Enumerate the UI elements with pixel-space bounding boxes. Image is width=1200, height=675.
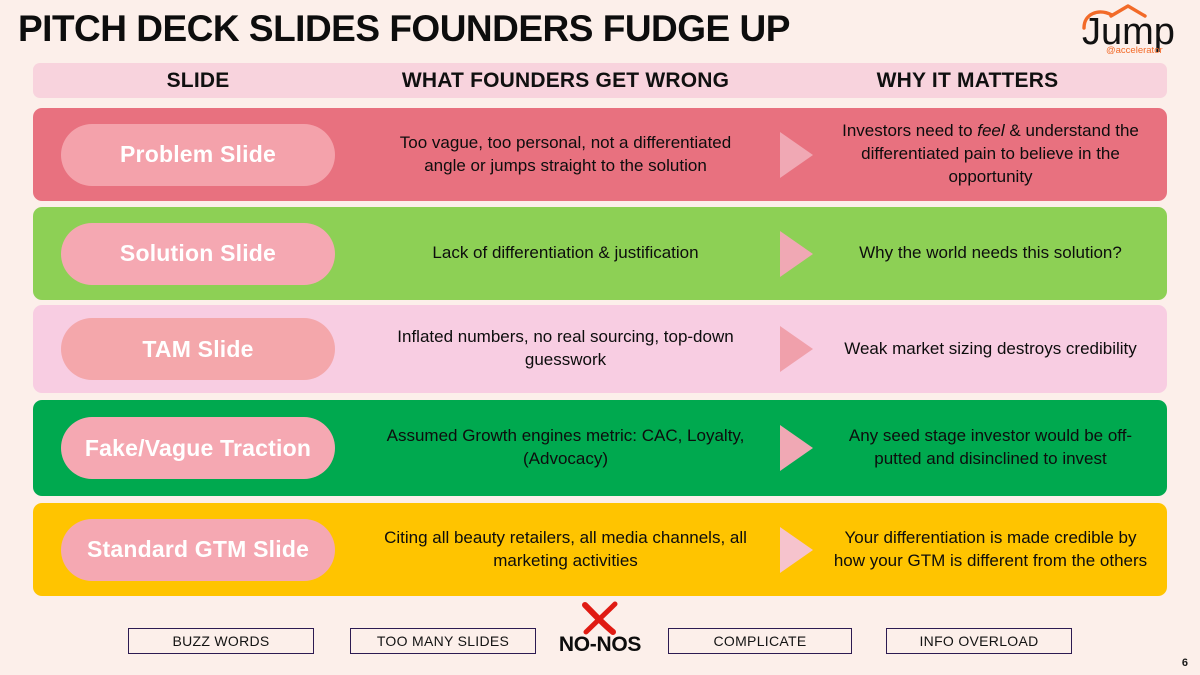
arrow-cell	[768, 132, 824, 178]
jump-logo-icon: Jump @accelerator	[1064, 2, 1196, 54]
play-arrow-icon	[780, 527, 813, 573]
why-it-matters-cell: Weak market sizing destroys credibility	[824, 338, 1167, 361]
header-matters: WHY IT MATTERS	[768, 69, 1167, 93]
nonos-badge: NO-NOS	[548, 600, 652, 657]
play-arrow-icon	[780, 231, 813, 277]
slide-name-pill: Solution Slide	[61, 223, 335, 285]
nono-chip-info-overload: INFO OVERLOAD	[886, 628, 1072, 654]
what-founders-get-wrong-cell: Inflated numbers, no real sourcing, top-…	[363, 326, 768, 372]
arrow-cell	[768, 326, 824, 372]
nono-chip-complicate: COMPLICATE	[668, 628, 852, 654]
play-arrow-icon	[780, 326, 813, 372]
slide-name-cell: Problem Slide	[33, 124, 363, 186]
nonos-label: NO-NOS	[548, 633, 652, 657]
slide-name-pill: TAM Slide	[61, 318, 335, 380]
svg-text:@accelerator: @accelerator	[1106, 45, 1163, 54]
jump-accelerator-logo: Jump @accelerator	[1064, 2, 1196, 54]
slide-name-pill: Fake/Vague Traction	[61, 417, 335, 479]
table-row: Standard GTM Slide Citing all beauty ret…	[33, 503, 1167, 596]
page-title: PITCH DECK SLIDES FOUNDERS FUDGE UP	[18, 8, 790, 50]
header-slide: SLIDE	[33, 69, 363, 93]
arrow-cell	[768, 527, 824, 573]
red-x-icon	[572, 600, 628, 636]
what-founders-get-wrong-cell: Lack of differentiation & justification	[363, 242, 768, 265]
what-founders-get-wrong-cell: Citing all beauty retailers, all media c…	[363, 527, 768, 573]
table-row: Solution Slide Lack of differentiation &…	[33, 207, 1167, 300]
nono-chip-too-many-slides: TOO MANY SLIDES	[350, 628, 536, 654]
what-founders-get-wrong-cell: Assumed Growth engines metric: CAC, Loya…	[363, 425, 768, 471]
arrow-cell	[768, 231, 824, 277]
page-number: 6	[1182, 657, 1188, 669]
slide-name-pill: Standard GTM Slide	[61, 519, 335, 581]
why-it-matters-cell: Investors need to feel & understand the …	[824, 120, 1167, 189]
table-row: Problem Slide Too vague, too personal, n…	[33, 108, 1167, 201]
matters-text-pre: Investors need to	[842, 121, 977, 140]
slide-name-cell: Solution Slide	[33, 223, 363, 285]
slide-name-cell: Fake/Vague Traction	[33, 417, 363, 479]
arrow-cell	[768, 425, 824, 471]
why-it-matters-cell: Why the world needs this solution?	[824, 242, 1167, 265]
table-row: Fake/Vague Traction Assumed Growth engin…	[33, 400, 1167, 496]
slide-canvas: PITCH DECK SLIDES FOUNDERS FUDGE UP Jump…	[0, 0, 1200, 675]
why-it-matters-cell: Any seed stage investor would be off-put…	[824, 425, 1167, 471]
table-header-row: SLIDE WHAT FOUNDERS GET WRONG WHY IT MAT…	[33, 63, 1167, 98]
table-row: TAM Slide Inflated numbers, no real sour…	[33, 305, 1167, 393]
play-arrow-icon	[780, 132, 813, 178]
slide-name-cell: Standard GTM Slide	[33, 519, 363, 581]
nono-chip-buzz-words: BUZZ WORDS	[128, 628, 314, 654]
why-it-matters-cell: Your differentiation is made credible by…	[824, 527, 1167, 573]
matters-text-italic: feel	[977, 121, 1004, 140]
what-founders-get-wrong-cell: Too vague, too personal, not a different…	[363, 132, 768, 178]
slide-name-cell: TAM Slide	[33, 318, 363, 380]
header-wrong: WHAT FOUNDERS GET WRONG	[363, 69, 768, 93]
play-arrow-icon	[780, 425, 813, 471]
footer-nonos-strip: BUZZ WORDS TOO MANY SLIDES NO-NOS COMPLI…	[0, 600, 1200, 675]
slide-name-pill: Problem Slide	[61, 124, 335, 186]
